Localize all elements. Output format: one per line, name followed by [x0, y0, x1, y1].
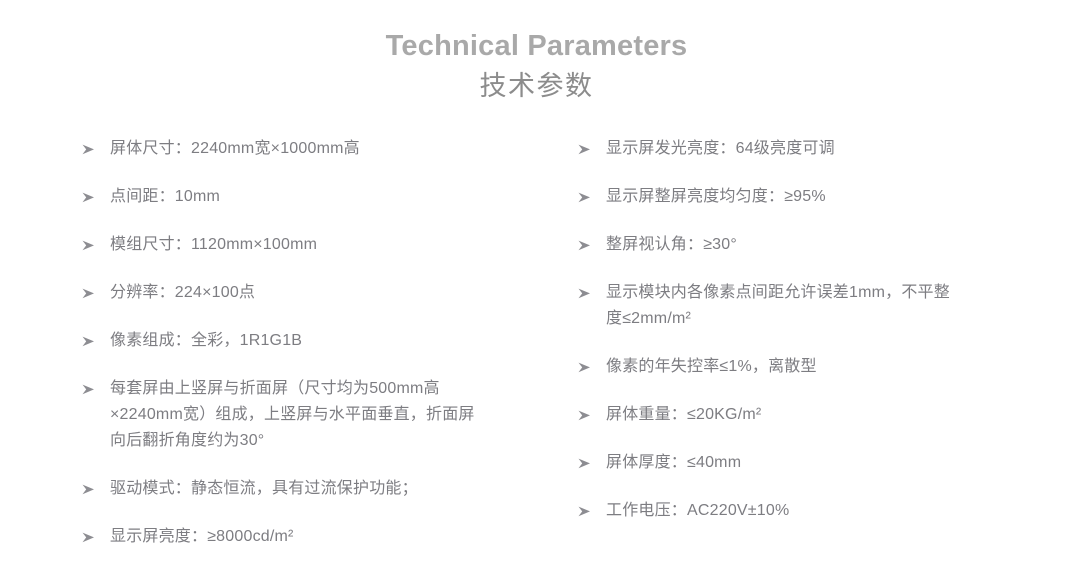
arrowhead-right-icon	[82, 232, 102, 258]
spec-item-text: 显示屏亮度：≥8000cd/m²	[110, 524, 580, 550]
spec-item-text: 屏体重量：≤20KG/m²	[606, 402, 1056, 428]
arrowhead-right-icon	[578, 232, 598, 258]
spec-item-text: 像素组成：全彩，1R1G1B	[110, 328, 580, 354]
arrowhead-right-icon	[578, 280, 598, 306]
spec-item-line: 整屏视认角：≥30°	[606, 232, 1056, 258]
arrowhead-right-icon	[578, 402, 598, 428]
spec-item-line: 像素组成：全彩，1R1G1B	[110, 328, 580, 354]
spec-item: 分辨率：224×100点	[80, 280, 580, 306]
spec-item-line: 显示屏整屏亮度均匀度：≥95%	[606, 184, 1056, 210]
spec-item: 屏体尺寸：2240mm宽×1000mm高	[80, 136, 580, 162]
spec-item-text: 像素的年失控率≤1%，离散型	[606, 354, 1056, 380]
page-heading: Technical Parameters 技术参数	[0, 28, 1073, 104]
spec-item: 每套屏由上竖屏与折面屏（尺寸均为500mm高×2240mm宽）组成，上竖屏与水平…	[80, 376, 580, 454]
spec-item: 驱动模式：静态恒流，具有过流保护功能；	[80, 476, 580, 502]
spec-item-text: 模组尺寸：1120mm×100mm	[110, 232, 580, 258]
arrowhead-right-icon	[578, 450, 598, 476]
arrowhead-right-icon	[82, 476, 102, 502]
spec-item-text: 整屏视认角：≥30°	[606, 232, 1056, 258]
spec-item-line: 屏体尺寸：2240mm宽×1000mm高	[110, 136, 580, 162]
spec-item-line: 显示屏发光亮度：64级亮度可调	[606, 136, 1056, 162]
spec-item: 显示屏发光亮度：64级亮度可调	[576, 136, 1056, 162]
arrowhead-right-icon	[82, 524, 102, 550]
page-title-cn: 技术参数	[0, 68, 1073, 104]
spec-item: 显示屏整屏亮度均匀度：≥95%	[576, 184, 1056, 210]
arrowhead-right-icon	[82, 280, 102, 306]
spec-item-line: 分辨率：224×100点	[110, 280, 580, 306]
spec-item: 屏体厚度：≤40mm	[576, 450, 1056, 476]
spec-item-line: 每套屏由上竖屏与折面屏（尺寸均为500mm高	[110, 376, 580, 402]
spec-item-line: 模组尺寸：1120mm×100mm	[110, 232, 580, 258]
spec-item-text: 屏体厚度：≤40mm	[606, 450, 1056, 476]
spec-item-line: 屏体重量：≤20KG/m²	[606, 402, 1056, 428]
spec-item: 像素的年失控率≤1%，离散型	[576, 354, 1056, 380]
spec-item: 显示模块内各像素点间距允许误差1mm，不平整度≤2mm/m²	[576, 280, 1056, 332]
spec-item-line: 向后翻折角度约为30°	[110, 428, 580, 454]
spec-item-text: 显示模块内各像素点间距允许误差1mm，不平整度≤2mm/m²	[606, 280, 1056, 332]
spec-item-line: 显示模块内各像素点间距允许误差1mm，不平整	[606, 280, 1056, 306]
spec-item-line: 点间距：10mm	[110, 184, 580, 210]
spec-item-text: 屏体尺寸：2240mm宽×1000mm高	[110, 136, 580, 162]
spec-item-text: 工作电压：AC220V±10%	[606, 498, 1056, 524]
spec-item: 显示屏亮度：≥8000cd/m²	[80, 524, 580, 550]
arrowhead-right-icon	[82, 184, 102, 210]
spec-item: 屏体重量：≤20KG/m²	[576, 402, 1056, 428]
spec-item: 模组尺寸：1120mm×100mm	[80, 232, 580, 258]
spec-item-text: 显示屏发光亮度：64级亮度可调	[606, 136, 1056, 162]
page-title-en: Technical Parameters	[0, 28, 1073, 64]
spec-item-line: 度≤2mm/m²	[606, 306, 1056, 332]
spec-item-text: 每套屏由上竖屏与折面屏（尺寸均为500mm高×2240mm宽）组成，上竖屏与水平…	[110, 376, 580, 454]
arrowhead-right-icon	[578, 184, 598, 210]
spec-item-text: 点间距：10mm	[110, 184, 580, 210]
spec-item: 整屏视认角：≥30°	[576, 232, 1056, 258]
arrowhead-right-icon	[578, 498, 598, 524]
spec-item-line: 屏体厚度：≤40mm	[606, 450, 1056, 476]
spec-item-text: 显示屏整屏亮度均匀度：≥95%	[606, 184, 1056, 210]
technical-parameters-page: Technical Parameters 技术参数 屏体尺寸：2240mm宽×1…	[0, 0, 1073, 567]
arrowhead-right-icon	[82, 376, 102, 402]
arrowhead-right-icon	[578, 136, 598, 162]
spec-item: 点间距：10mm	[80, 184, 580, 210]
spec-columns: 屏体尺寸：2240mm宽×1000mm高点间距：10mm模组尺寸：1120mm×…	[0, 136, 1073, 566]
spec-item-line: 像素的年失控率≤1%，离散型	[606, 354, 1056, 380]
spec-item: 工作电压：AC220V±10%	[576, 498, 1056, 524]
spec-item-line: 显示屏亮度：≥8000cd/m²	[110, 524, 580, 550]
spec-item: 像素组成：全彩，1R1G1B	[80, 328, 580, 354]
spec-item-text: 驱动模式：静态恒流，具有过流保护功能；	[110, 476, 580, 502]
spec-item-text: 分辨率：224×100点	[110, 280, 580, 306]
arrowhead-right-icon	[82, 136, 102, 162]
arrowhead-right-icon	[578, 354, 598, 380]
spec-item-line: ×2240mm宽）组成，上竖屏与水平面垂直，折面屏	[110, 402, 580, 428]
arrowhead-right-icon	[82, 328, 102, 354]
spec-item-line: 驱动模式：静态恒流，具有过流保护功能；	[110, 476, 580, 502]
spec-item-line: 工作电压：AC220V±10%	[606, 498, 1056, 524]
